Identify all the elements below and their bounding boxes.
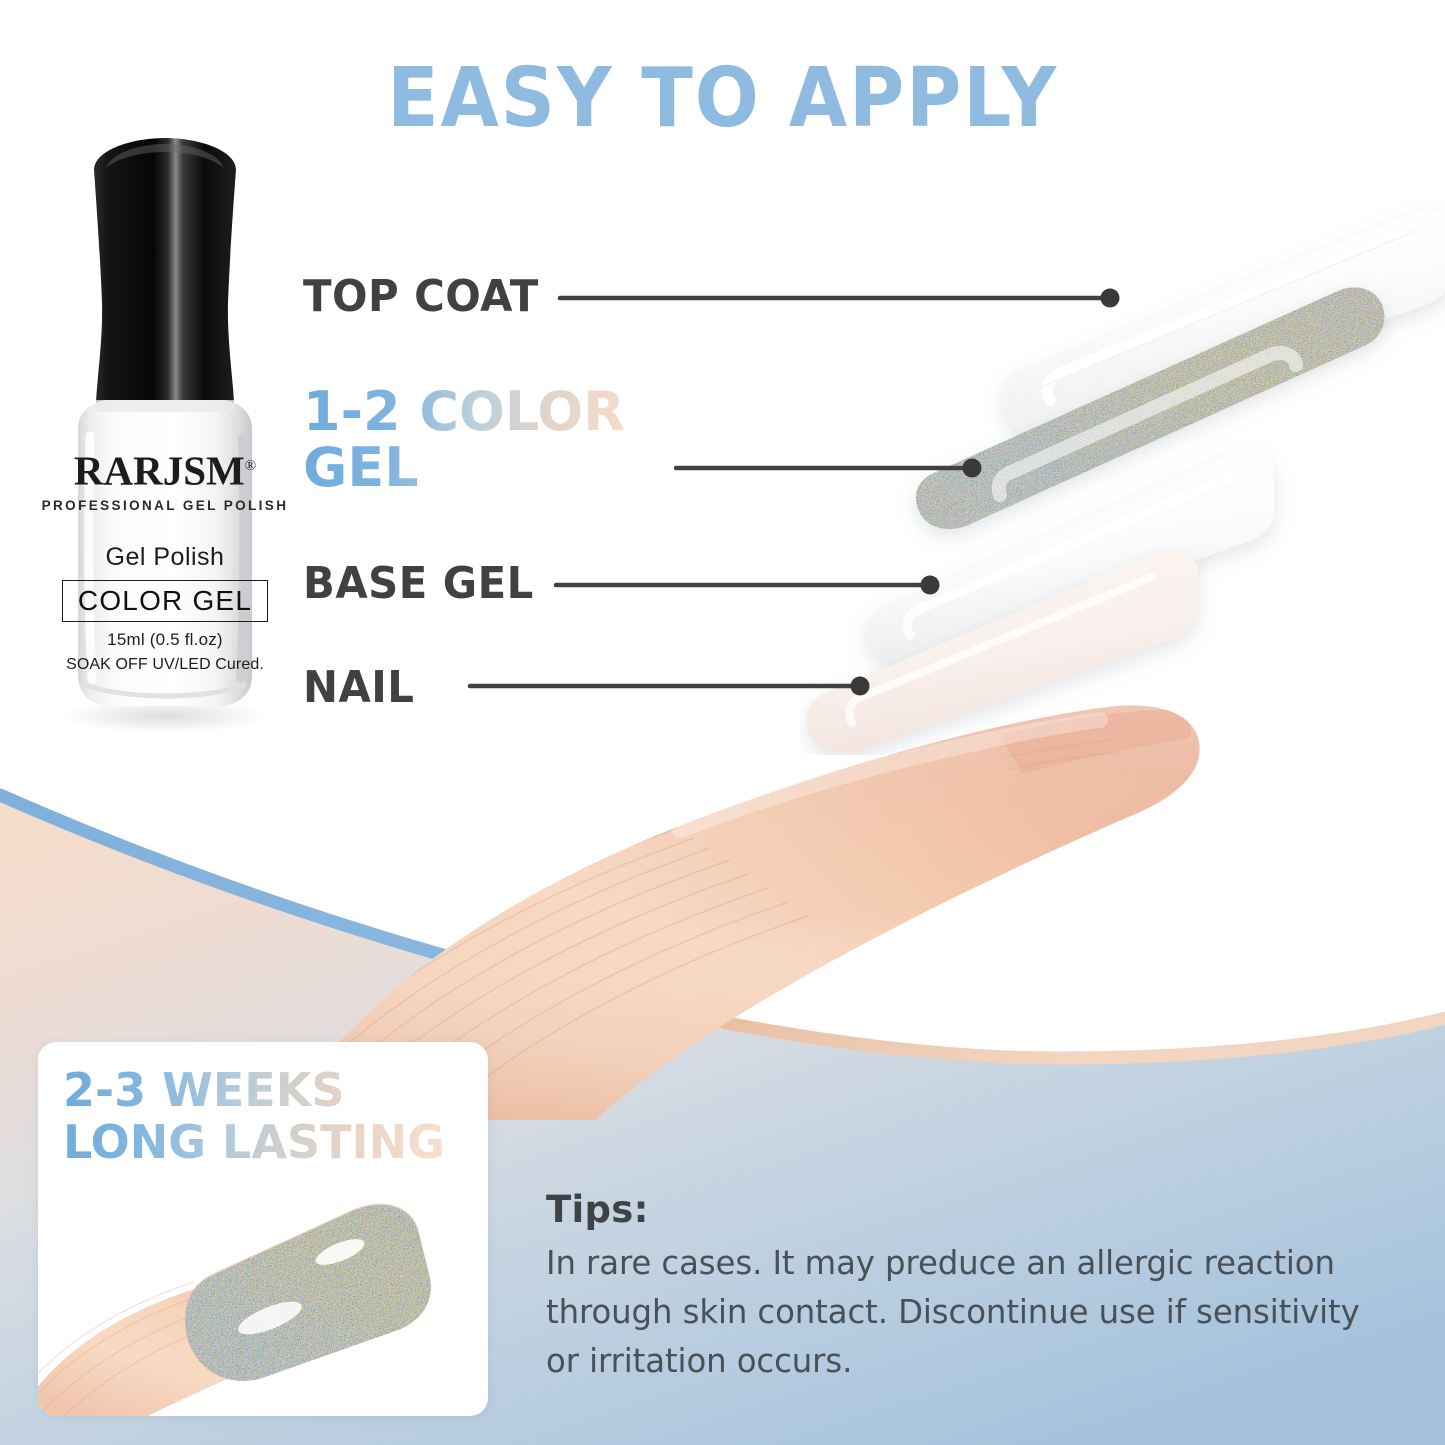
volume-label: 15ml (0.5 fl.oz) xyxy=(34,630,296,650)
callout-base-gel: BASE GEL xyxy=(303,559,546,609)
feature-card-headline: 2-3 WEEKS LONG LASTING xyxy=(63,1064,483,1168)
brand-tagline: PROFESSIONAL GEL POLISH xyxy=(34,498,296,513)
product-name-label: COLOR GEL xyxy=(78,585,252,617)
registered-trademark-icon: ® xyxy=(245,458,256,474)
product-bottle-image: RARJSM® PROFESSIONAL GEL POLISH Gel Poli… xyxy=(34,128,296,738)
callout-label-top-coat: TOP COAT xyxy=(303,272,539,322)
tips-heading: Tips: xyxy=(546,1188,1386,1232)
callout-color-gel: 1-2 COLOR GEL xyxy=(303,384,703,496)
curing-instructions-label: SOAK OFF UV/LED Cured. xyxy=(34,656,296,674)
feature-headline-line-2: LONG LASTING xyxy=(63,1116,483,1168)
brand-name: RARJSM® xyxy=(34,446,296,492)
feature-headline-line-1: 2-3 WEEKS xyxy=(63,1064,483,1116)
finger-illustration xyxy=(300,560,1320,1120)
tips-body-text: In rare cases. It may preduce an allergi… xyxy=(546,1238,1369,1385)
callout-label-color-gel: 1-2 COLOR GEL xyxy=(303,384,703,496)
callout-label-base-gel: BASE GEL xyxy=(303,559,534,609)
bottle-label: RARJSM® PROFESSIONAL GEL POLISH Gel Poli… xyxy=(34,128,296,738)
callout-top-coat: TOP COAT xyxy=(303,272,551,322)
callout-label-nail: NAIL xyxy=(303,663,414,713)
callout-nail: NAIL xyxy=(303,663,420,713)
long-lasting-feature-card: 2-3 WEEKS LONG LASTING xyxy=(38,1042,488,1416)
product-type-label: Gel Polish xyxy=(34,543,296,572)
product-name-box: COLOR GEL xyxy=(62,580,268,622)
tips-section: Tips: In rare cases. It may preduce an a… xyxy=(546,1188,1386,1385)
feature-card-nail-photo xyxy=(38,1182,488,1416)
infographic-canvas: EASY TO APPLY xyxy=(0,0,1445,1445)
